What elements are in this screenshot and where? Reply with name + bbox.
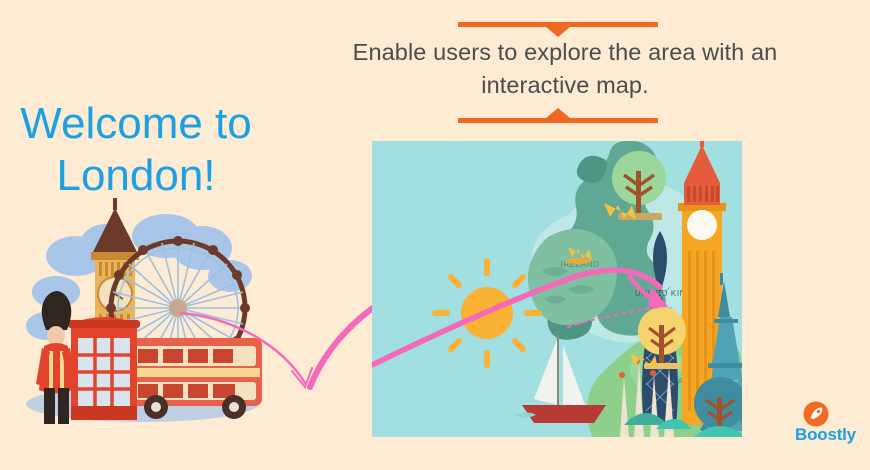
headline-line-1: Welcome to (20, 99, 252, 148)
page-title: Welcome to London! (2, 98, 270, 202)
interactive-map[interactable]: IRELAND UNITED KINGDOM FRANCE (372, 141, 742, 437)
red-phone-booth-icon (68, 317, 140, 420)
arrow-to-map-head (292, 368, 312, 387)
subtitle-text: Enable users to explore the area with an… (330, 36, 800, 102)
rule-bar (458, 118, 658, 123)
brand-logo[interactable]: Boostly (795, 401, 863, 449)
headline-line-2: London! (56, 151, 215, 200)
header-block: Enable users to explore the area with an… (330, 8, 800, 128)
subtitle-line-1: Enable users to explore the area with an (353, 39, 778, 65)
triangle-up-notch-icon (546, 108, 570, 118)
rocket-icon (803, 401, 829, 427)
subtitle-line-2: interactive map. (481, 72, 648, 98)
london-landmarks-illustration (16, 196, 268, 426)
brand-name: Boostly (795, 425, 863, 445)
slide-canvas: Enable users to explore the area with an… (0, 0, 870, 470)
